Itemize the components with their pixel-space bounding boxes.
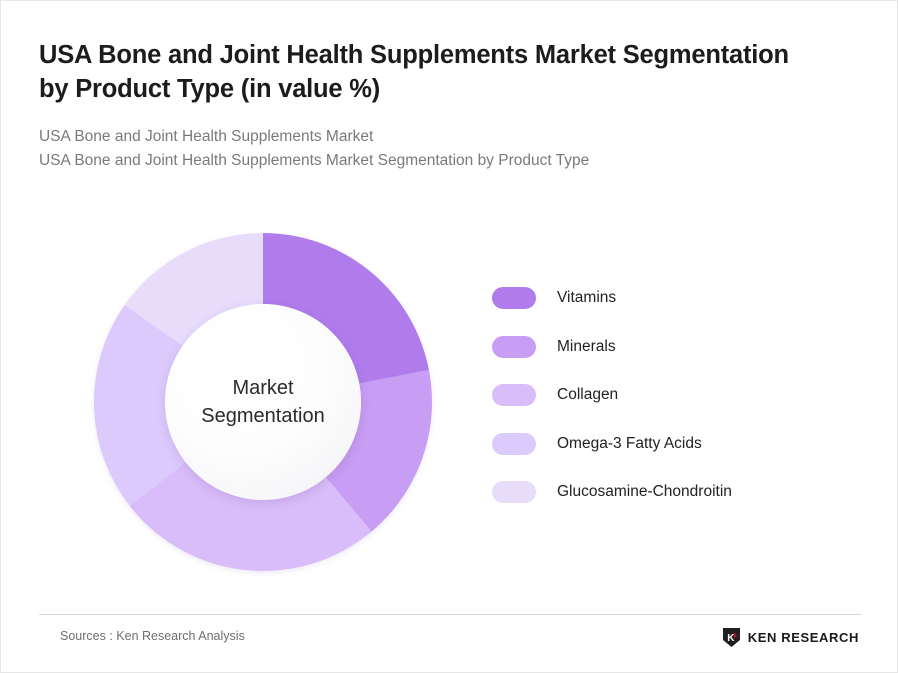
donut-center-label: Market Segmentation — [165, 304, 361, 500]
header: USA Bone and Joint Health Supplements Ma… — [39, 39, 799, 173]
legend-swatch — [492, 336, 536, 358]
legend-swatch — [492, 433, 536, 455]
legend-swatch — [492, 481, 536, 503]
donut-chart: Market Segmentation — [94, 233, 432, 571]
svg-text:K: K — [727, 633, 735, 644]
legend-label: Collagen — [557, 386, 618, 404]
legend-swatch — [492, 384, 536, 406]
legend-item[interactable]: Minerals — [492, 323, 852, 372]
subtitle-line-1: USA Bone and Joint Health Supplements Ma… — [39, 125, 799, 149]
donut-center-line-1: Market — [232, 374, 293, 402]
legend-label: Minerals — [557, 338, 616, 356]
slide-canvas: USA Bone and Joint Health Supplements Ma… — [0, 0, 898, 673]
legend-item[interactable]: Glucosamine-Chondroitin — [492, 468, 852, 517]
chart-legend: VitaminsMineralsCollagenOmega-3 Fatty Ac… — [492, 274, 852, 517]
legend-item[interactable]: Omega-3 Fatty Acids — [492, 420, 852, 469]
legend-item[interactable]: Vitamins — [492, 274, 852, 323]
legend-label: Vitamins — [557, 289, 616, 307]
chart-area: Market Segmentation VitaminsMineralsColl… — [1, 219, 898, 599]
page-title: USA Bone and Joint Health Supplements Ma… — [39, 39, 799, 107]
donut-center-line-2: Segmentation — [201, 402, 324, 430]
legend-label: Omega-3 Fatty Acids — [557, 435, 702, 453]
footer-divider — [39, 614, 861, 615]
legend-item[interactable]: Collagen — [492, 371, 852, 420]
legend-swatch — [492, 287, 536, 309]
subtitle-block: USA Bone and Joint Health Supplements Ma… — [39, 125, 799, 173]
subtitle-line-2: USA Bone and Joint Health Supplements Ma… — [39, 149, 799, 173]
brand-name: KEN RESEARCH — [748, 630, 859, 645]
legend-label: Glucosamine-Chondroitin — [557, 483, 732, 501]
sources-note: Sources : Ken Research Analysis — [60, 629, 245, 643]
brand-logo: K KEN RESEARCH — [722, 627, 859, 648]
ken-research-shield-icon: K — [722, 627, 741, 648]
